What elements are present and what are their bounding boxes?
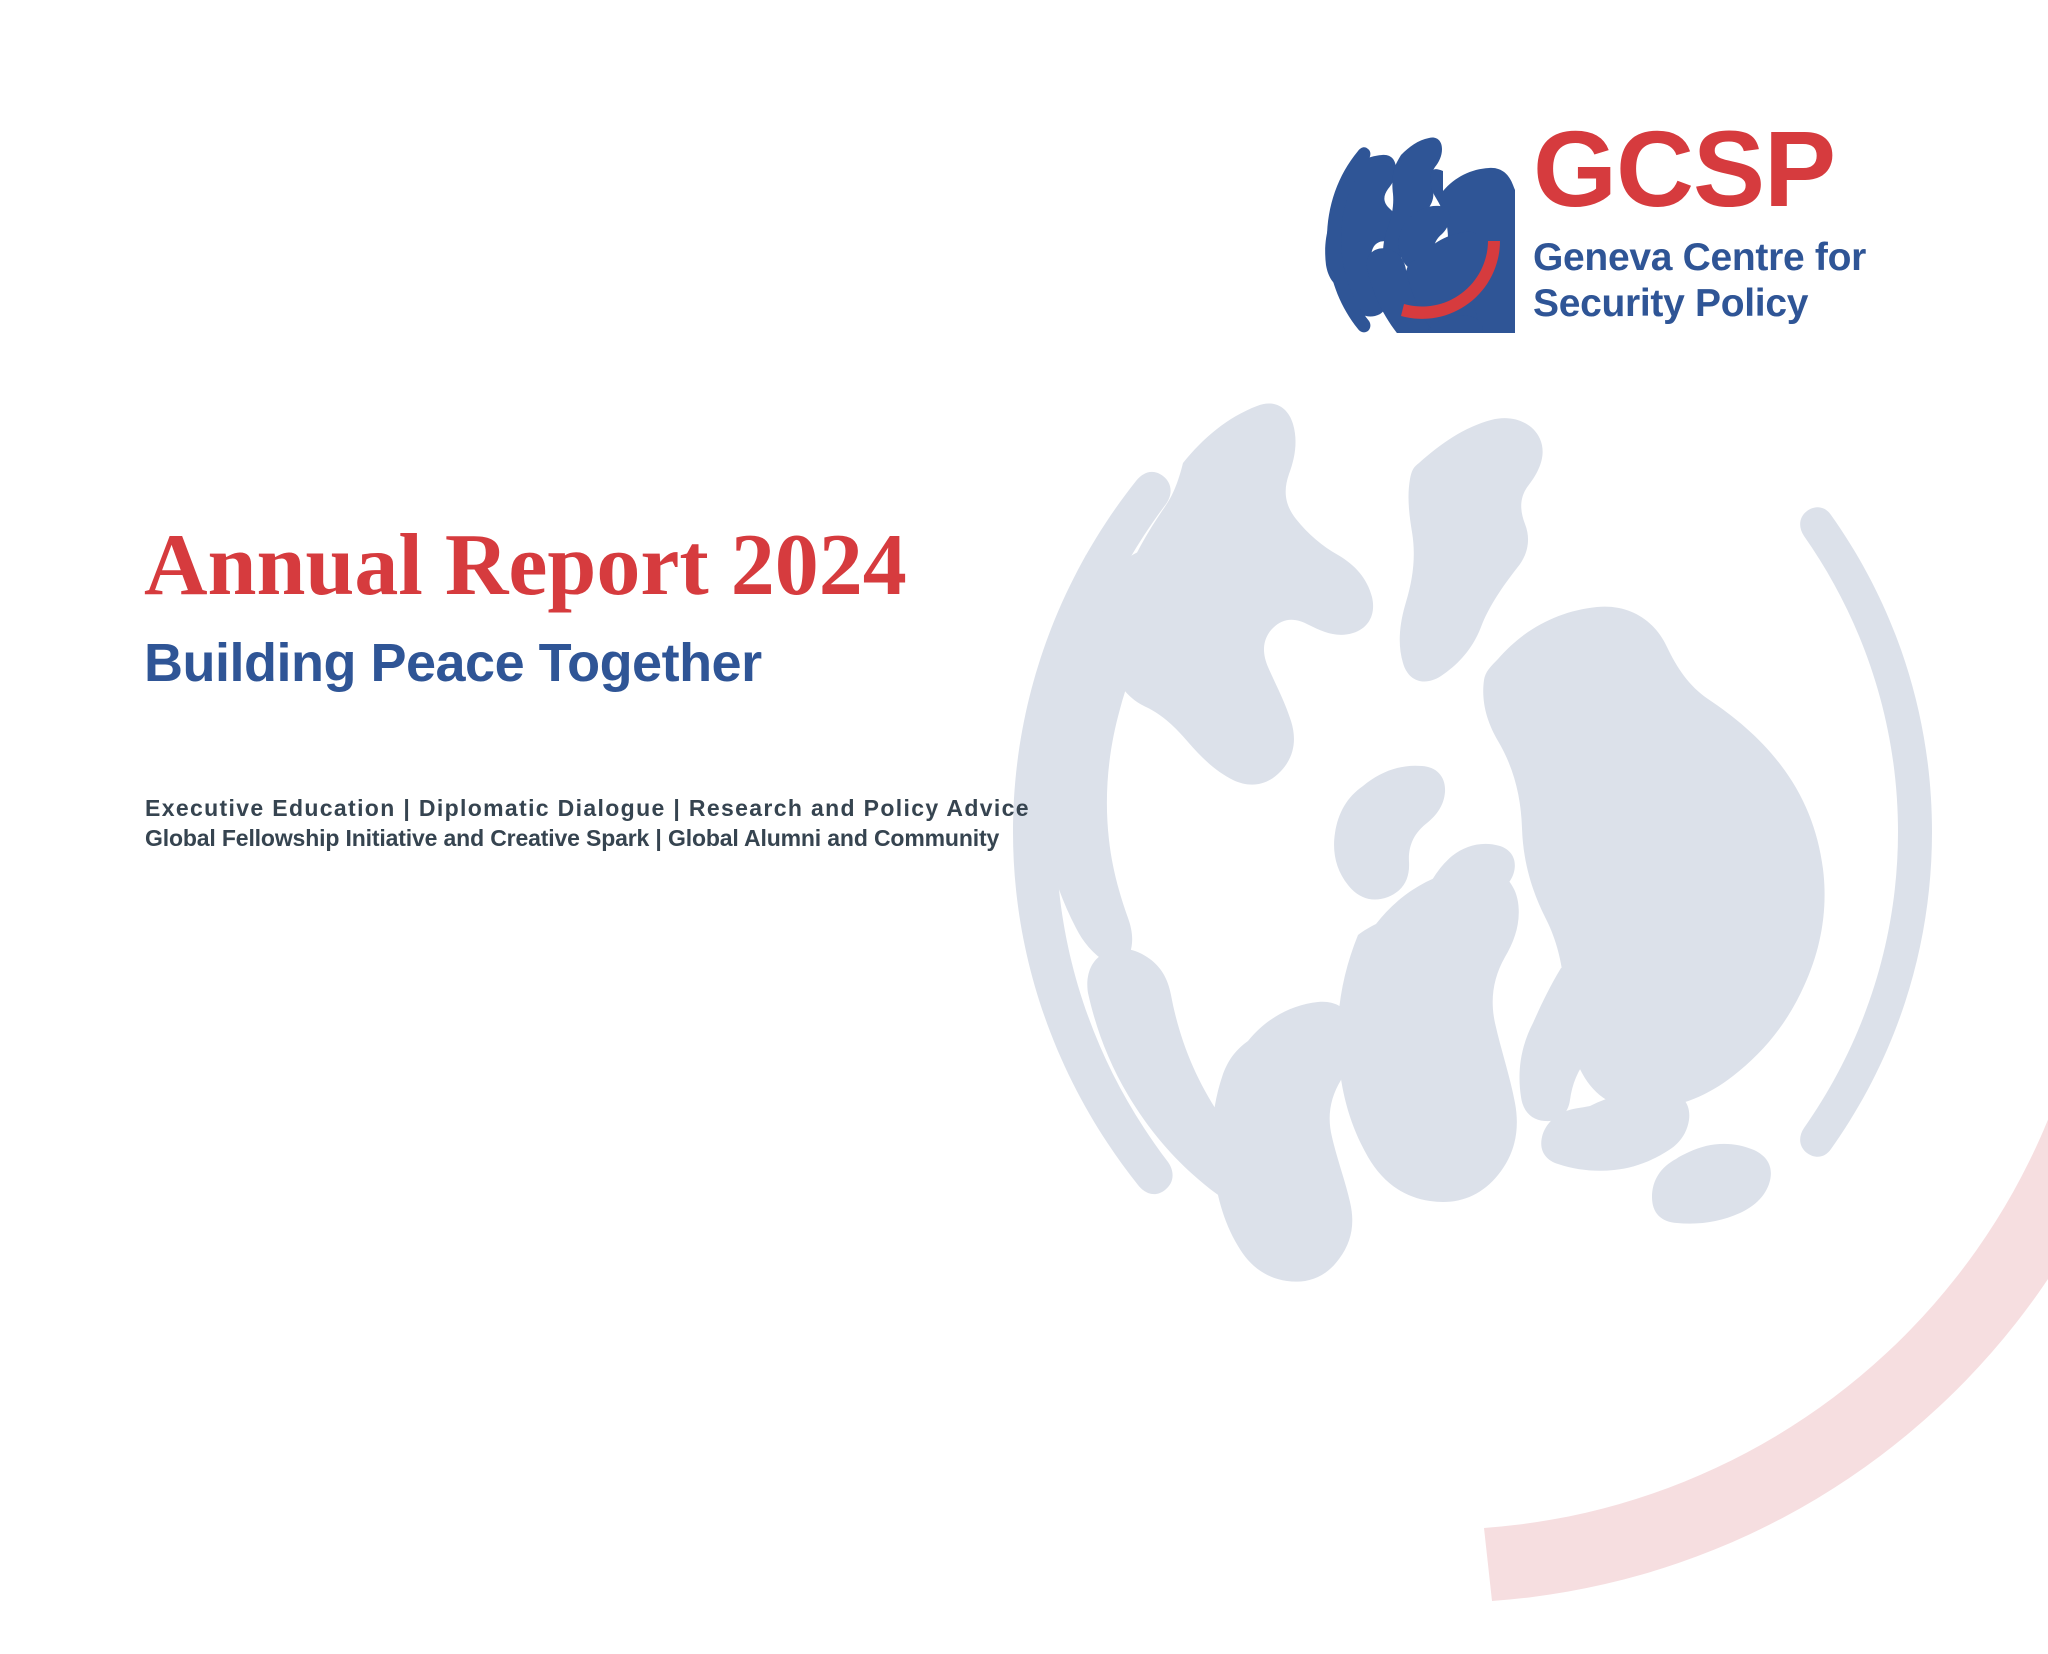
pillars-line-2: Global Fellowship Initiative and Creativ… (145, 823, 1175, 853)
red-arc-watermark-icon (1484, 748, 2048, 1601)
cover-pillars-block: Executive Education | Diplomatic Dialogu… (145, 793, 1175, 854)
cover-title-block: Annual Report 2024 Building Peace Togeth… (144, 522, 1164, 690)
page-subtitle: Building Peace Together (144, 636, 1164, 690)
gcsp-acronym: GCSP (1533, 118, 1973, 221)
pillars-line-1: Executive Education | Diplomatic Dialogu… (145, 793, 1175, 823)
gcsp-logo: GCSP Geneva Centre for Security Policy (1305, 118, 1975, 348)
gcsp-name-line-1: Geneva Centre for (1533, 235, 1973, 281)
page-title: Annual Report 2024 (144, 522, 1164, 610)
gcsp-wordmark: GCSP Geneva Centre for Security Policy (1533, 118, 1973, 327)
gcsp-name-line-2: Security Policy (1533, 281, 1973, 327)
gcsp-globe-icon (1305, 123, 1515, 333)
